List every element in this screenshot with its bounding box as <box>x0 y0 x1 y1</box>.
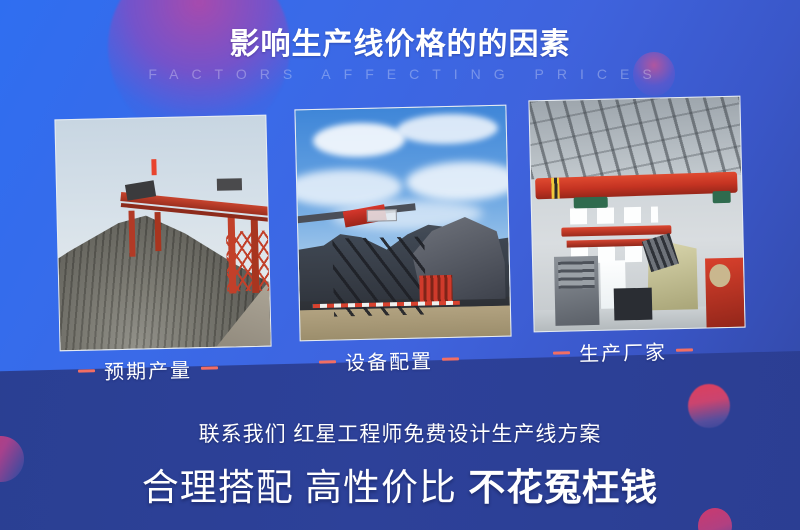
crushing-plant-photo <box>295 106 510 341</box>
dash-icon <box>319 360 336 363</box>
photo-card[interactable] <box>54 115 271 352</box>
slogan-bold-part: 不花冤枉钱 <box>468 467 658 508</box>
photo-card[interactable] <box>294 105 511 342</box>
contact-tagline: 联系我们 红星工程师免费设计生产线方案 <box>0 418 800 448</box>
photo-caption-label: 设备配置 <box>345 345 434 376</box>
photo-caption-label: 生产厂家 <box>579 336 668 367</box>
stockpile-conveyor-photo <box>55 116 270 351</box>
photo-caption: 预期产量 <box>78 353 219 385</box>
dash-icon <box>78 369 95 372</box>
dash-icon <box>676 348 693 351</box>
dash-icon <box>553 351 570 354</box>
factory-workshop-photo <box>529 97 744 332</box>
photo-caption: 生产厂家 <box>553 335 694 367</box>
banner-footer: 联系我们 红星工程师免费设计生产线方案 合理搭配 高性价比 不花冤枉钱 <box>0 418 800 511</box>
slogan: 合理搭配 高性价比 不花冤枉钱 <box>0 457 800 511</box>
photo-caption-label: 预期产量 <box>104 354 193 385</box>
photo-card[interactable] <box>528 96 745 333</box>
photo-caption: 设备配置 <box>319 344 460 376</box>
dash-icon <box>201 366 218 369</box>
promo-banner: 影响生产线价格的的因素 FACTORS AFFECTING PRICES <box>0 0 800 530</box>
dash-icon <box>442 357 459 360</box>
slogan-normal-part: 合理搭配 高性价比 <box>142 467 469 508</box>
